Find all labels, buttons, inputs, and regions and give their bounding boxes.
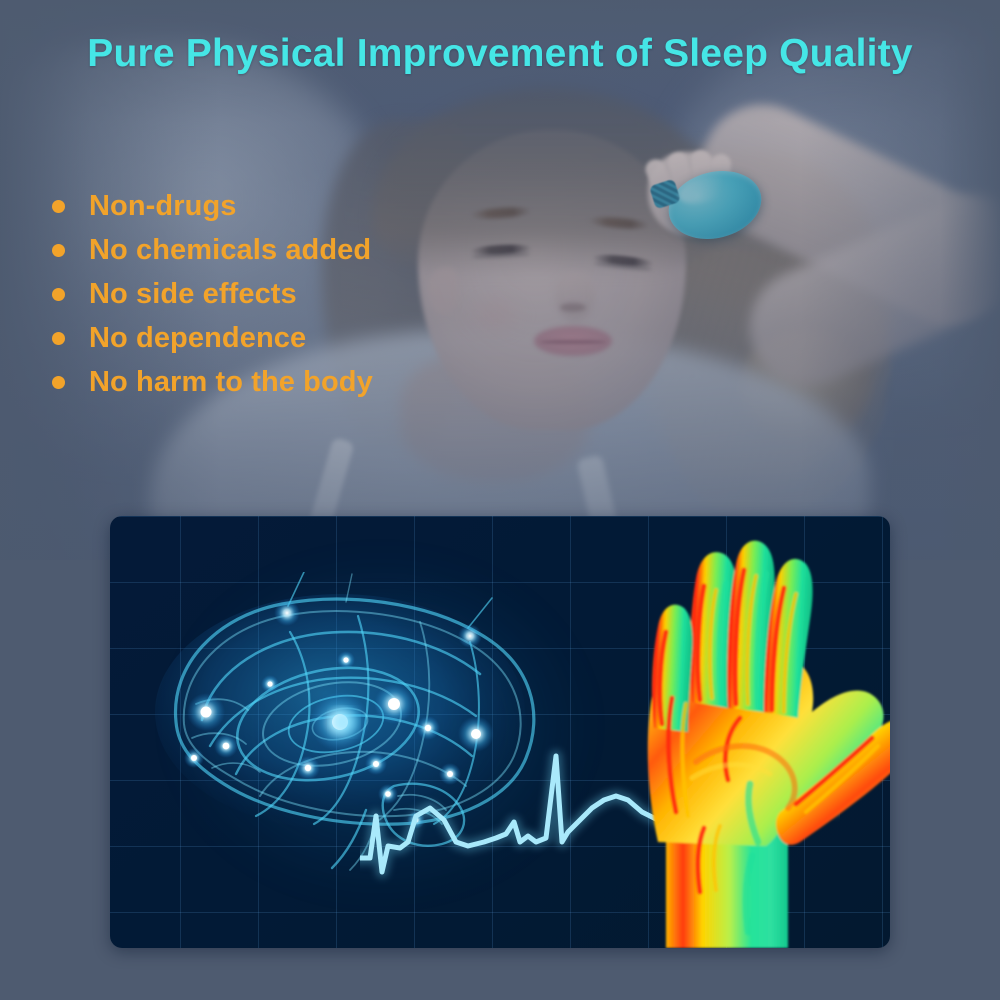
list-item: No chemicals added bbox=[52, 230, 373, 270]
thermal-imaging-hand bbox=[600, 516, 890, 948]
tech-illustration-panel bbox=[110, 516, 890, 948]
bullet-dot-icon bbox=[52, 244, 65, 257]
list-item: Non-drugs bbox=[52, 186, 373, 226]
list-item: No harm to the body bbox=[52, 362, 373, 402]
list-item-label: Non-drugs bbox=[89, 190, 237, 223]
list-item-label: No side effects bbox=[89, 278, 297, 311]
list-item-label: No dependence bbox=[89, 322, 306, 355]
bullet-dot-icon bbox=[52, 200, 65, 213]
bullet-dot-icon bbox=[52, 332, 65, 345]
page-title: Pure Physical Improvement of Sleep Quali… bbox=[0, 32, 1000, 76]
list-item: No dependence bbox=[52, 318, 373, 358]
list-item: No side effects bbox=[52, 274, 373, 314]
list-item-label: No chemicals added bbox=[89, 234, 371, 267]
list-item-label: No harm to the body bbox=[89, 366, 373, 399]
bullet-dot-icon bbox=[52, 288, 65, 301]
promo-image: Pure Physical Improvement of Sleep Quali… bbox=[0, 0, 1000, 1000]
bullet-dot-icon bbox=[52, 376, 65, 389]
benefits-list: Non-drugs No chemicals added No side eff… bbox=[52, 186, 373, 406]
